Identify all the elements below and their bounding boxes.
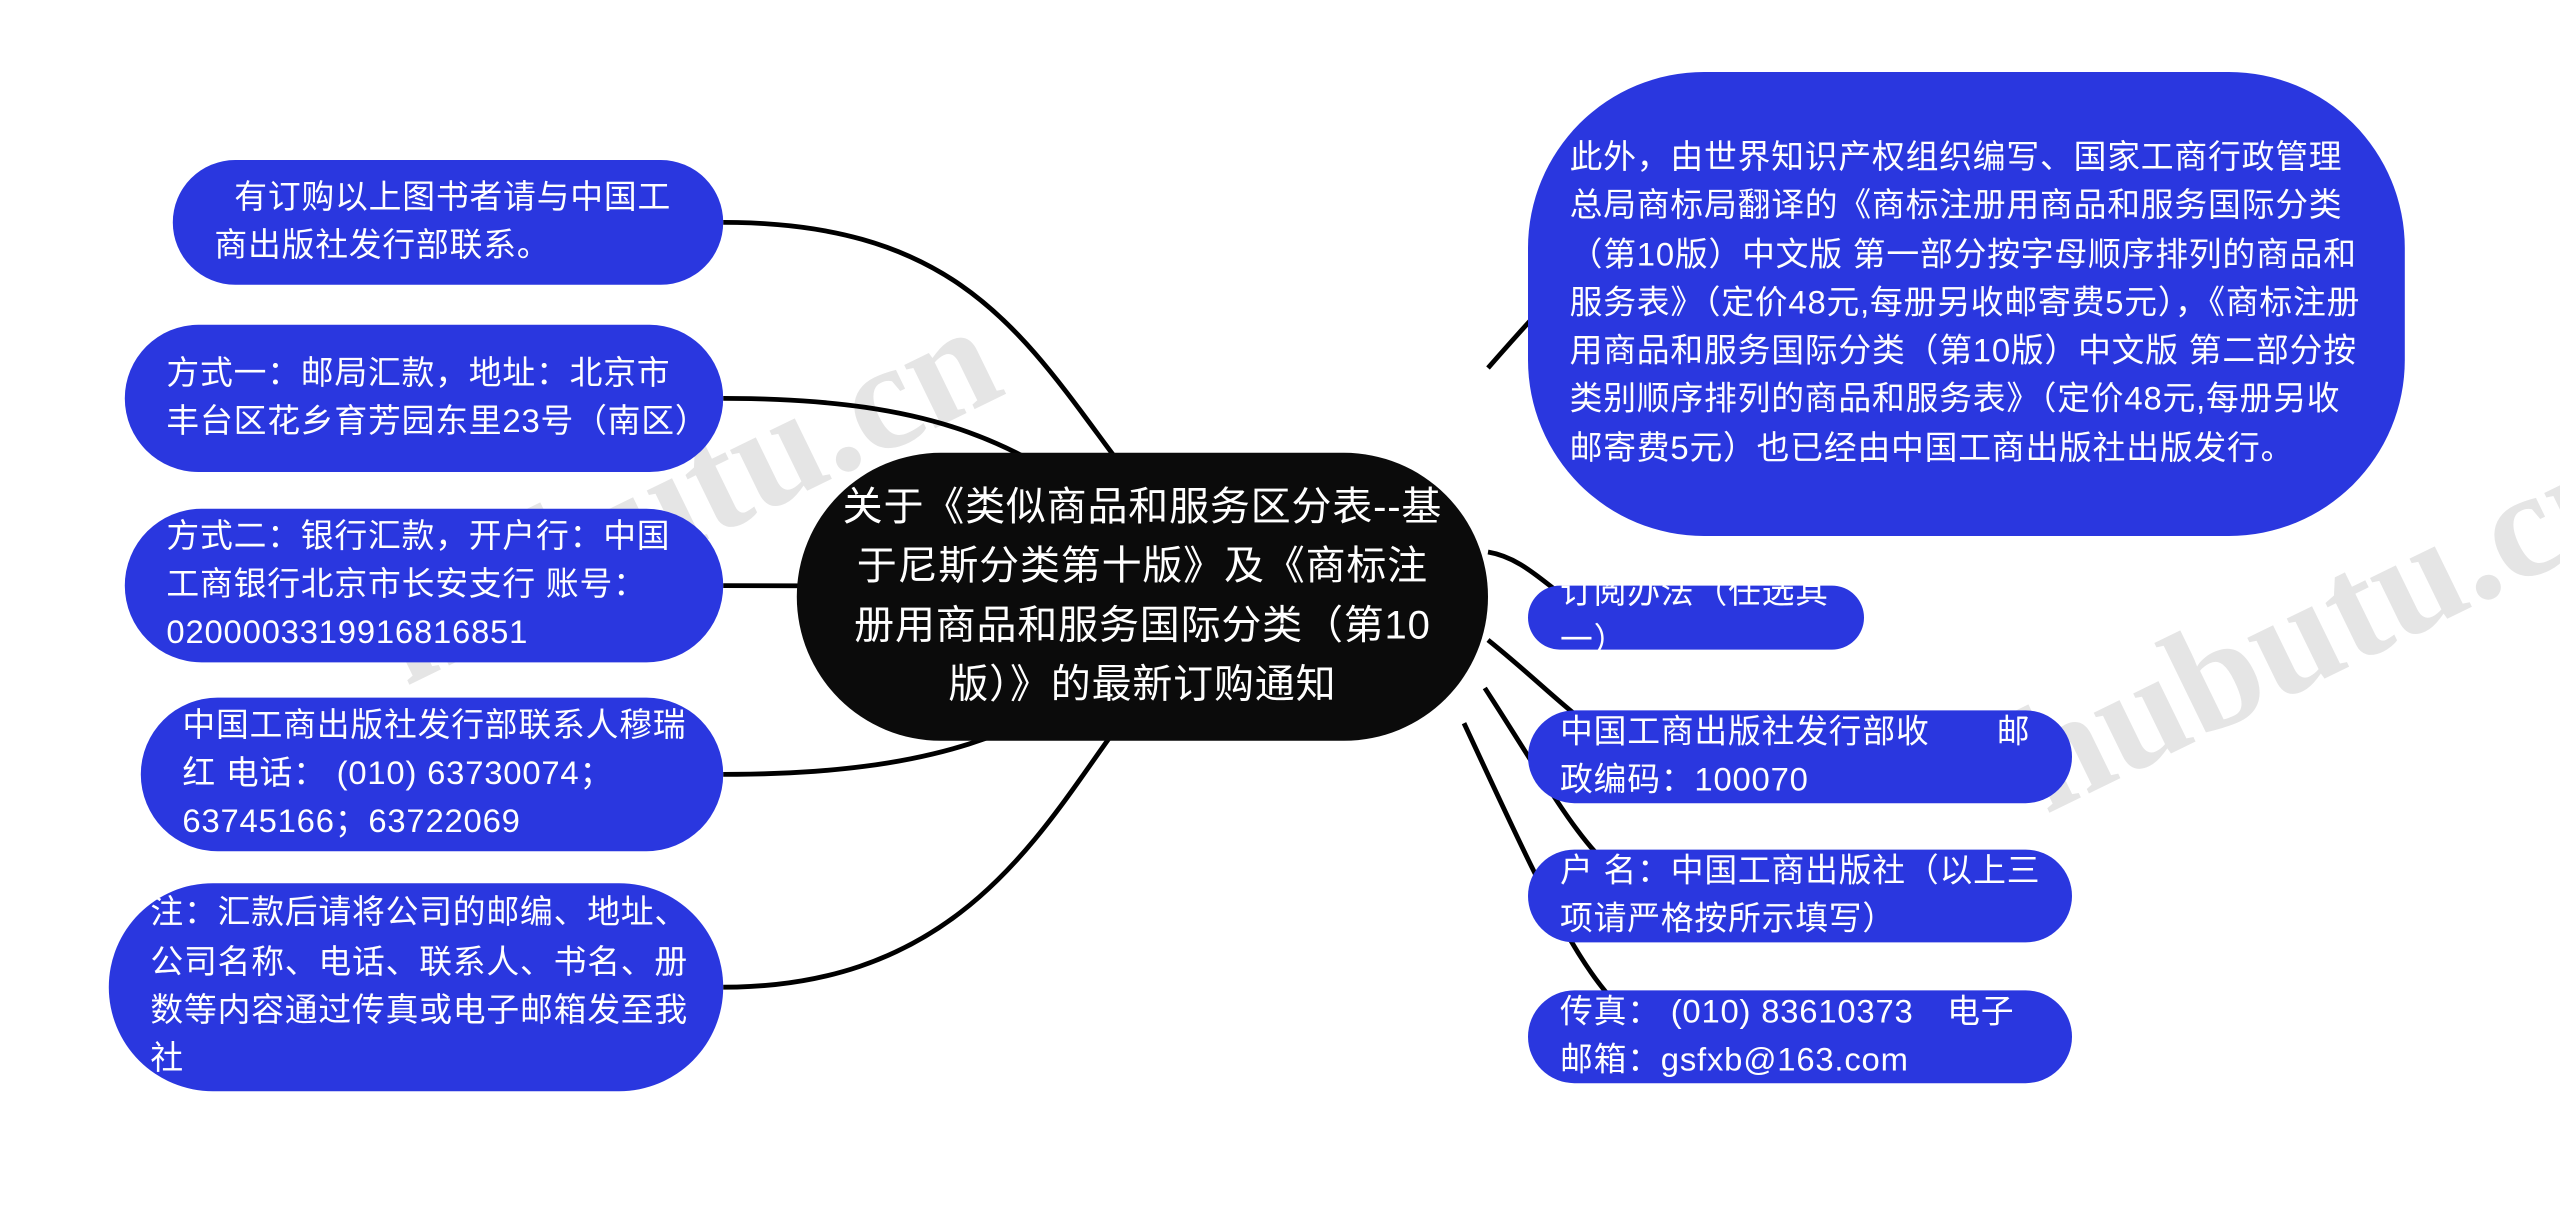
branch-node-left-2[interactable]: 方式一：邮局汇款，地址：北京市丰台区花乡育芳园东里23号（南区） xyxy=(125,325,723,472)
branch-node-text: 注：汇款后请将公司的邮编、地址、公司名称、电话、联系人、书名、册数等内容通过传真… xyxy=(150,890,694,1084)
branch-node-text: 中国工商出版社发行部联系人穆瑞红 电话： (010) 63730074；6374… xyxy=(182,702,694,848)
branch-node-text: 中国工商出版社发行部收 邮政编码：100070 xyxy=(1560,708,2046,805)
branch-node-right-2[interactable]: 中国工商出版社发行部收 邮政编码：100070 xyxy=(1528,710,2072,803)
root-node-text: 关于《类似商品和服务区分表--基于尼斯分类第十版》及《商标注册用商品和服务国际分… xyxy=(842,478,1444,715)
branch-node-left-4[interactable]: 中国工商出版社发行部联系人穆瑞红 电话： (010) 63730074；6374… xyxy=(141,698,723,852)
branch-node-right-top[interactable]: 此外，由世界知识产权组织编写、国家工商行政管理总局商标局翻译的《商标注册用商品和… xyxy=(1528,72,2405,536)
edge-left-5 xyxy=(723,723,1120,987)
root-node[interactable]: 关于《类似商品和服务区分表--基于尼斯分类第十版》及《商标注册用商品和服务国际分… xyxy=(797,453,1488,741)
mindmap-canvas: hubutu.cn hubutu.cn 图 si 有订购以上图书者请与中国工商出… xyxy=(0,0,2560,1225)
branch-node-text: 方式一：邮局汇款，地址：北京市丰台区花乡育芳园东里23号（南区） xyxy=(166,350,694,447)
branch-node-left-1[interactable]: 有订购以上图书者请与中国工商出版社发行部联系。 xyxy=(173,160,723,285)
branch-node-text: 户 名：中国工商出版社（以上三项请严格按所示填写） xyxy=(1560,847,2046,944)
branch-node-text: 有订购以上图书者请与中国工商出版社发行部联系。 xyxy=(214,174,691,271)
branch-node-text: 传真： (010) 83610373 电子邮箱：gsfxb@163.com xyxy=(1560,988,2046,1085)
branch-node-text: 此外，由世界知识产权组织编写、国家工商行政管理总局商标局翻译的《商标注册用商品和… xyxy=(1570,134,2367,474)
branch-node-left-3[interactable]: 方式二：银行汇款，开户行：中国工商银行北京市长安支行 账号：0200003319… xyxy=(125,509,723,663)
branch-node-right-4[interactable]: 传真： (010) 83610373 电子邮箱：gsfxb@163.com xyxy=(1528,990,2072,1083)
branch-node-right-3[interactable]: 户 名：中国工商出版社（以上三项请严格按所示填写） xyxy=(1528,850,2072,943)
branch-node-left-5[interactable]: 注：汇款后请将公司的邮编、地址、公司名称、电话、联系人、书名、册数等内容通过传真… xyxy=(109,883,723,1091)
branch-node-right-1[interactable]: 订阅办法（任选其一） xyxy=(1528,586,1864,650)
branch-node-text: 方式二：银行汇款，开户行：中国工商银行北京市长安支行 账号：0200003319… xyxy=(166,513,694,659)
branch-node-text: 订阅办法（任选其一） xyxy=(1560,569,1838,666)
edge-left-1 xyxy=(723,222,1120,464)
